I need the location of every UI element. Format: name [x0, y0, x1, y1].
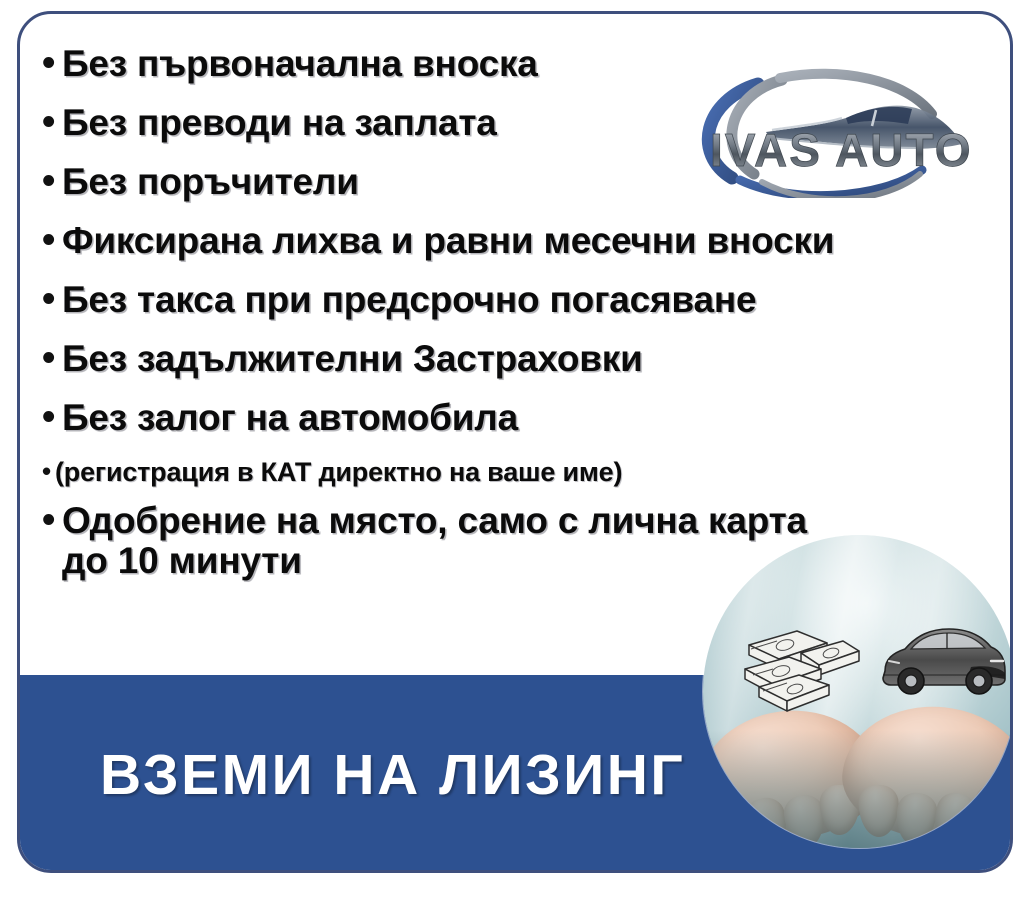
bullet-icon: •: [42, 339, 62, 377]
ivas-auto-logo: IVAS AUTO: [670, 58, 1000, 198]
bullet-icon: •: [42, 162, 62, 200]
bullet-icon: •: [42, 457, 55, 485]
benefit-item: •Без залог на автомобила: [42, 398, 1002, 438]
photo-bottom-shading: [703, 730, 1013, 848]
benefit-text: Без задължителни Застраховки: [62, 339, 1002, 379]
bullet-icon: •: [42, 501, 62, 539]
svg-text:IVAS AUTO: IVAS AUTO: [710, 124, 973, 176]
bullet-icon: •: [42, 280, 62, 318]
hands-offering-money-and-car-photo: [703, 535, 1013, 848]
benefit-text: (регистрация в КАТ директно на ваше име): [55, 457, 1002, 487]
benefit-item: •Без такса при предсрочно погасяване: [42, 280, 1002, 320]
benefit-item: •Без задължителни Застраховки: [42, 339, 1002, 379]
benefit-item: •Фиксирана лихва и равни месечни вноски: [42, 221, 1002, 261]
bullet-icon: •: [42, 103, 62, 141]
benefit-text: Без такса при предсрочно погасяване: [62, 280, 1002, 320]
money-stacks-sketch: [743, 619, 863, 715]
leasing-banner-text: ВЗЕМИ НА ЛИЗИНГ: [100, 745, 685, 805]
benefit-text: Фиксирана лихва и равни месечни вноски: [62, 221, 1002, 261]
advertisement-card: •Без първоначална вноска•Без преводи на …: [17, 11, 1013, 873]
benefit-item: •(регистрация в КАТ директно на ваше име…: [42, 457, 1002, 487]
bullet-icon: •: [42, 221, 62, 259]
bullet-icon: •: [42, 398, 62, 436]
benefit-text: Без залог на автомобила: [62, 398, 1002, 438]
bullet-icon: •: [42, 44, 62, 82]
car-sketch: [875, 621, 1007, 699]
